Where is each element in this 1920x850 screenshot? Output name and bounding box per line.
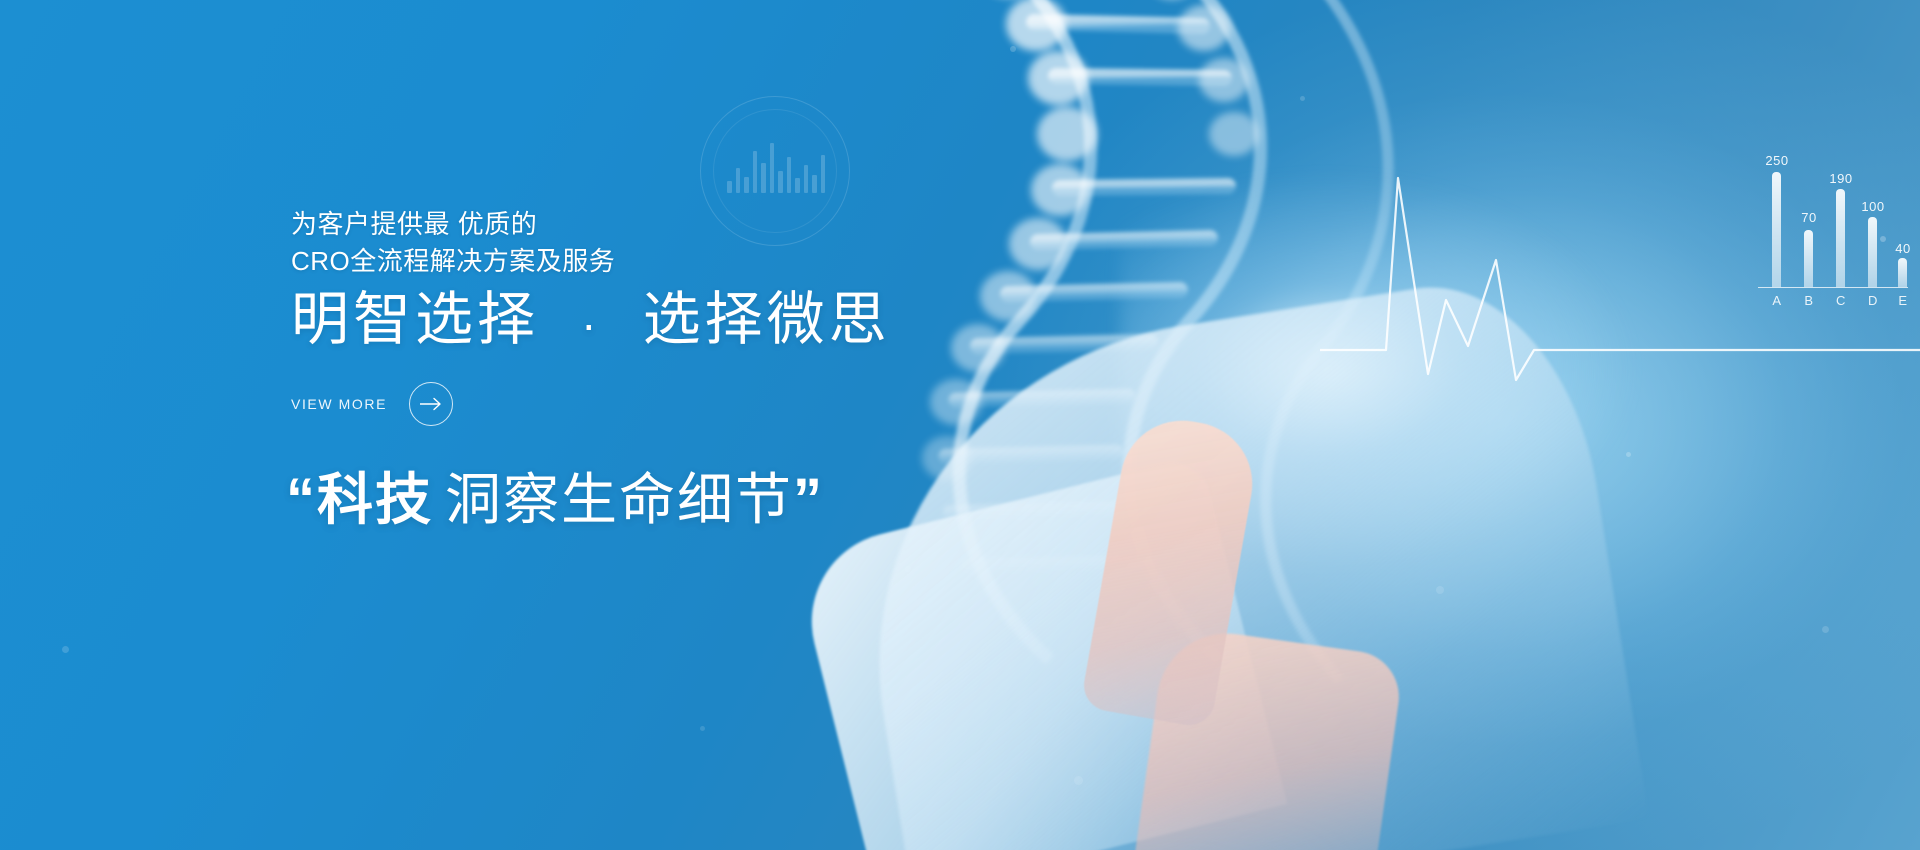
- bar-value-b: 70: [1801, 210, 1816, 225]
- hero-copy: 为客户提供最 优质的 CRO全流程解决方案及服务 明智选择 · 选择微思 VIE…: [291, 0, 1091, 850]
- quote-close-mark: ”: [793, 467, 824, 532]
- hero-banner: 250 70 190 100 40 A B C D E 为客户提供最 优质的 C…: [0, 0, 1920, 850]
- headline-separator: ·: [559, 298, 622, 350]
- chart-category-d: D: [1868, 293, 1878, 308]
- hero-subtitle-line1: 为客户提供最 优质的: [291, 209, 537, 239]
- bar-b: [1804, 230, 1813, 287]
- quote-light: 洞察生命细节: [433, 468, 793, 531]
- chart-category-a: A: [1772, 293, 1781, 308]
- headline-right: 选择微思: [643, 287, 891, 352]
- page-title: 明智选择 · 选择微思: [291, 272, 891, 356]
- bar-value-c: 190: [1829, 171, 1852, 186]
- bar-e: [1898, 258, 1907, 287]
- bar-chart-overlay: 250 70 190 100 40 A B C D E: [1758, 155, 1908, 315]
- chart-category-labels: A B C D E: [1758, 293, 1908, 313]
- chart-category-e: E: [1898, 293, 1907, 308]
- view-more-button[interactable]: VIEW MORE: [291, 382, 453, 426]
- bar-a: [1772, 172, 1781, 287]
- bar-value-a: 250: [1765, 153, 1788, 168]
- bar-value-e: 40: [1895, 241, 1910, 256]
- chart-category-c: C: [1836, 293, 1846, 308]
- bokeh-speck: [62, 646, 69, 653]
- bar-d: [1868, 217, 1877, 287]
- view-more-label: VIEW MORE: [291, 396, 387, 412]
- bar-chart-plot: 250 70 190 100 40: [1758, 155, 1908, 287]
- arrow-right-icon[interactable]: [409, 382, 453, 426]
- headline-left: 明智选择: [291, 287, 539, 352]
- quote-open-mark: “: [286, 467, 317, 532]
- chart-category-b: B: [1804, 293, 1813, 308]
- hero-quote: “科技洞察生命细节”: [286, 455, 824, 536]
- bokeh-speck: [1822, 626, 1829, 633]
- bar-c: [1836, 189, 1845, 287]
- quote-strong: 科技: [317, 468, 433, 531]
- bar-value-d: 100: [1861, 199, 1884, 214]
- chart-axis-line: [1758, 287, 1908, 288]
